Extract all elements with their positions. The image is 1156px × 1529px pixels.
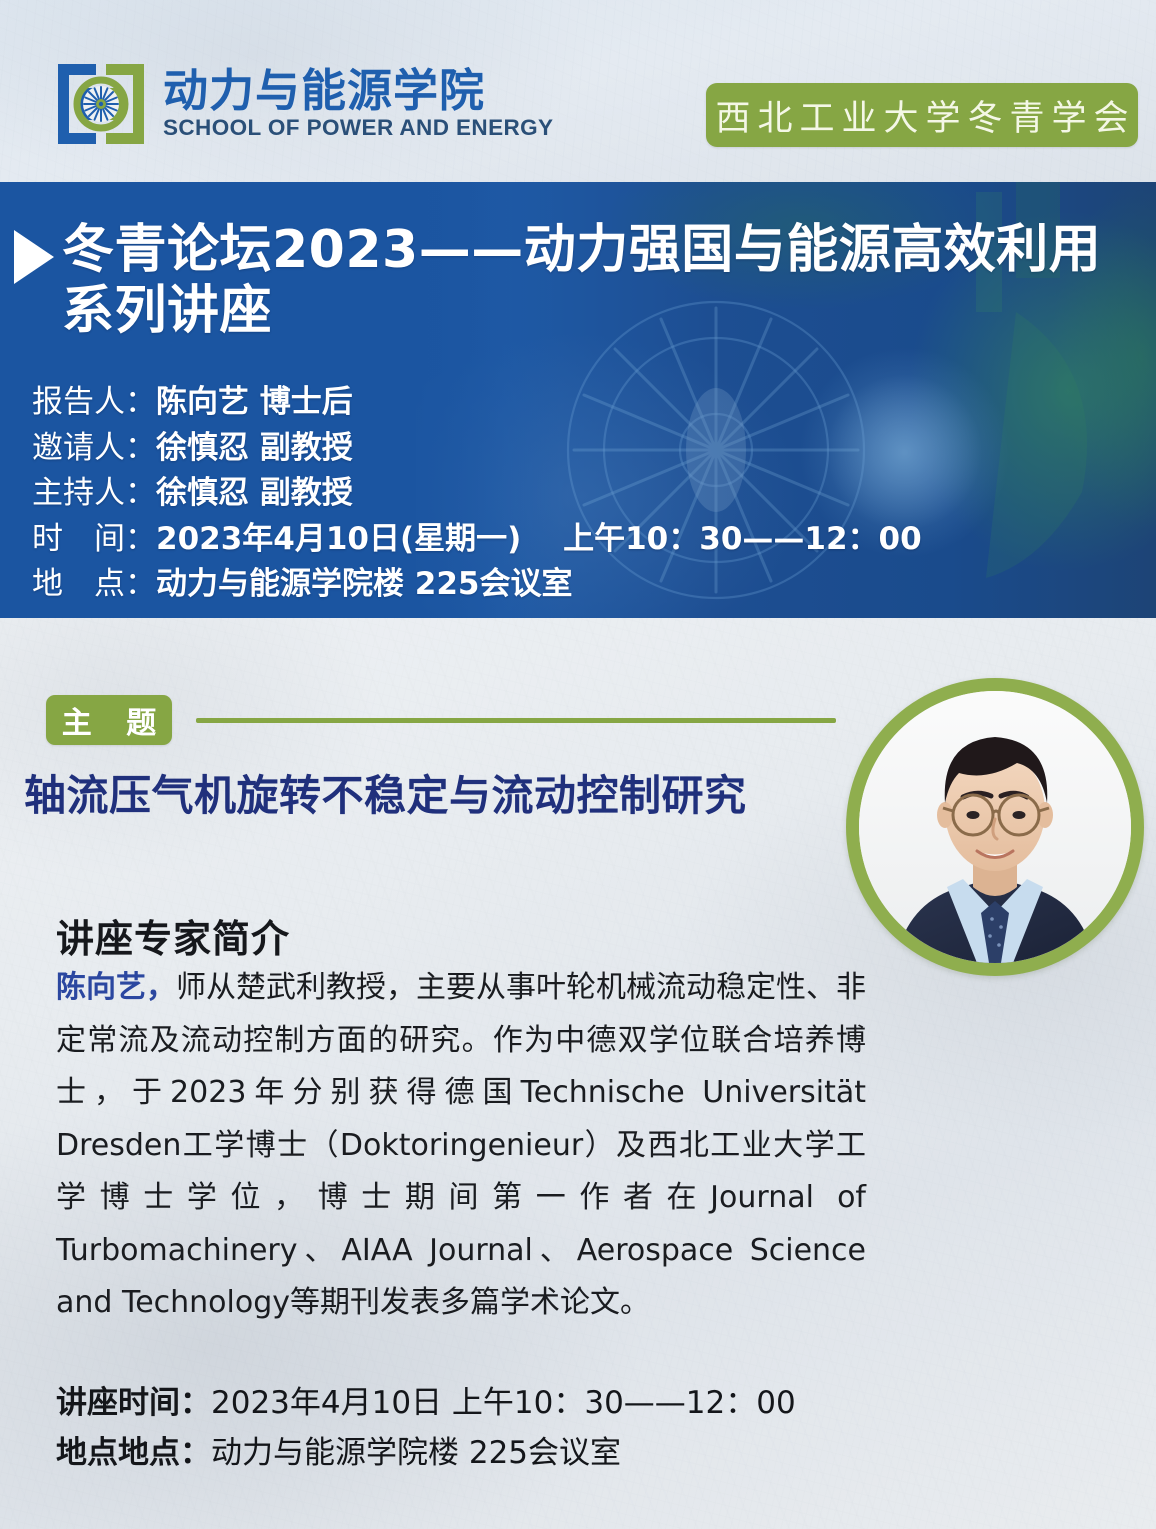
meta-row-host: 主持人：徐慎忍 副教授 — [32, 471, 1122, 517]
meta-value: 2023年4月10日(星期一) 上午10：30——12：00 — [156, 521, 922, 557]
bio-speaker-name: 陈向艺， — [56, 970, 176, 1005]
footer-label: 地点地点： — [56, 1435, 211, 1471]
footer-label: 讲座时间： — [56, 1385, 211, 1421]
meta-row-inviter: 邀请人：徐慎忍 副教授 — [32, 426, 1122, 472]
banner-content: 冬青论坛2023——动力强国与能源高效利用系列讲座 报告人：陈向艺 博士后 邀请… — [0, 182, 1156, 618]
event-meta-list: 报告人：陈向艺 博士后 邀请人：徐慎忍 副教授 主持人：徐慎忍 副教授 时 间：… — [32, 380, 1122, 608]
meta-label: 主持人： — [32, 475, 156, 511]
school-name-en: SCHOOL OF POWER AND ENERGY — [163, 117, 553, 140]
bio-text: 师从楚武利教授，主要从事叶轮机械流动稳定性、非定常流及流动控制方面的研究。作为中… — [56, 970, 866, 1320]
topic-badge: 主 题 — [46, 695, 172, 745]
school-wordmark: 动力与能源学院 SCHOOL OF POWER AND ENERGY — [163, 68, 553, 140]
meta-row-place: 地 点：动力与能源学院楼 225会议室 — [32, 562, 1122, 608]
poster-header: 动力与能源学院 SCHOOL OF POWER AND ENERGY 西北工业大… — [0, 0, 1156, 182]
poster-root: 动力与能源学院 SCHOOL OF POWER AND ENERGY 西北工业大… — [0, 0, 1156, 1529]
footer-info: 讲座时间：2023年4月10日 上午10：30——12：00 地点地点：动力与能… — [56, 1378, 1006, 1478]
topic-heading-row: 主 题 — [46, 695, 836, 745]
meta-value: 徐慎忍 副教授 — [156, 430, 353, 466]
meta-label: 邀请人： — [32, 430, 156, 466]
school-logo-block: 动力与能源学院 SCHOOL OF POWER AND ENERGY — [52, 58, 553, 150]
topic-title: 轴流压气机旋转不稳定与流动控制研究 — [24, 762, 844, 823]
footer-value: 动力与能源学院楼 225会议室 — [211, 1435, 621, 1471]
event-title: 冬青论坛2023——动力强国与能源高效利用系列讲座 — [62, 220, 1122, 343]
meta-label: 地 点： — [32, 566, 156, 602]
topic-divider-rule — [196, 718, 836, 723]
power-energy-impeller-logo-icon — [52, 58, 150, 150]
meta-row-time: 时 间：2023年4月10日(星期一) 上午10：30——12：00 — [32, 517, 1122, 563]
speaker-portrait-ring — [846, 678, 1144, 976]
play-triangle-icon — [14, 230, 54, 284]
meta-label: 报告人： — [32, 384, 156, 420]
footer-value: 2023年4月10日 上午10：30——12：00 — [211, 1385, 796, 1421]
footer-row-place: 地点地点：动力与能源学院楼 225会议室 — [56, 1428, 1006, 1478]
meta-value: 徐慎忍 副教授 — [156, 475, 353, 511]
speaker-portrait-frame — [859, 691, 1131, 963]
school-name-cn: 动力与能源学院 — [163, 68, 553, 113]
speaker-portrait-photo — [859, 691, 1131, 963]
meta-value: 动力与能源学院楼 225会议室 — [156, 566, 573, 602]
society-badge: 西北工业大学冬青学会 — [706, 83, 1138, 147]
bio-paragraph: 陈向艺，师从楚武利教授，主要从事叶轮机械流动稳定性、非定常流及流动控制方面的研究… — [56, 962, 866, 1330]
bio-heading: 讲座专家简介 — [56, 908, 290, 963]
meta-row-speaker: 报告人：陈向艺 博士后 — [32, 380, 1122, 426]
meta-label: 时 间： — [32, 521, 156, 557]
meta-value: 陈向艺 博士后 — [156, 384, 353, 420]
society-badge-label: 西北工业大学冬青学会 — [708, 90, 1135, 141]
topic-badge-label: 主 题 — [50, 698, 168, 742]
event-banner: 冬青论坛2023——动力强国与能源高效利用系列讲座 报告人：陈向艺 博士后 邀请… — [0, 182, 1156, 618]
footer-row-time: 讲座时间：2023年4月10日 上午10：30——12：00 — [56, 1378, 1006, 1428]
